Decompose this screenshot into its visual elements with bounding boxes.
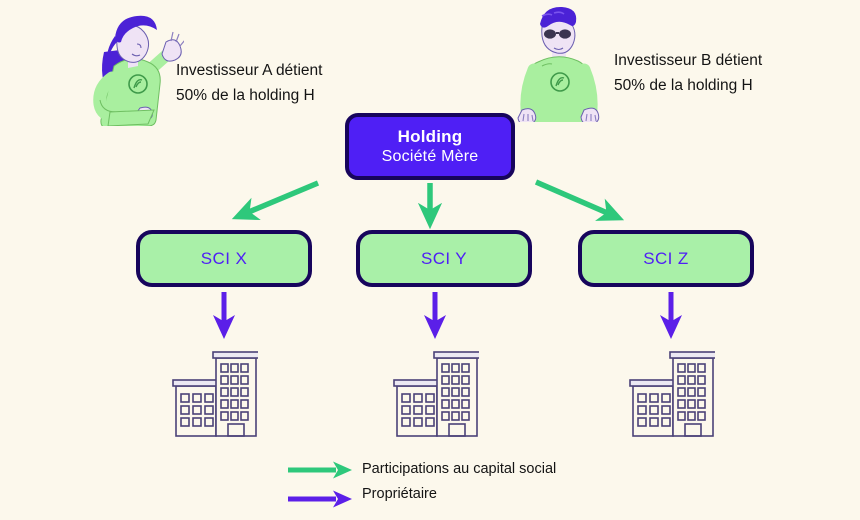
node-holding[interactable]: Holding Société Mère xyxy=(345,113,515,180)
sci-y-label: SCI Y xyxy=(421,249,467,269)
legend-purple-arrow-icon xyxy=(286,487,356,511)
node-sci-z[interactable]: SCI Z xyxy=(578,230,754,287)
diagram-canvas: Investisseur A détient 50% de la holding… xyxy=(0,0,860,520)
edge-holding-to-sci-x xyxy=(244,183,318,214)
sci-z-label: SCI Z xyxy=(643,249,688,269)
holding-subtitle: Société Mère xyxy=(382,147,479,167)
building-icon-sci-y xyxy=(393,344,479,438)
legend-label-participations: Participations au capital social xyxy=(362,461,556,477)
building-icon-sci-x xyxy=(172,344,258,438)
node-sci-x[interactable]: SCI X xyxy=(136,230,312,287)
sci-x-label: SCI X xyxy=(201,249,247,269)
building-icon-sci-z xyxy=(629,344,715,438)
legend-label-proprietaire: Propriétaire xyxy=(362,486,437,502)
legend-green-arrow-icon xyxy=(286,458,356,482)
edge-holding-to-sci-z xyxy=(536,182,612,215)
node-sci-y[interactable]: SCI Y xyxy=(356,230,532,287)
holding-title: Holding xyxy=(398,126,463,147)
